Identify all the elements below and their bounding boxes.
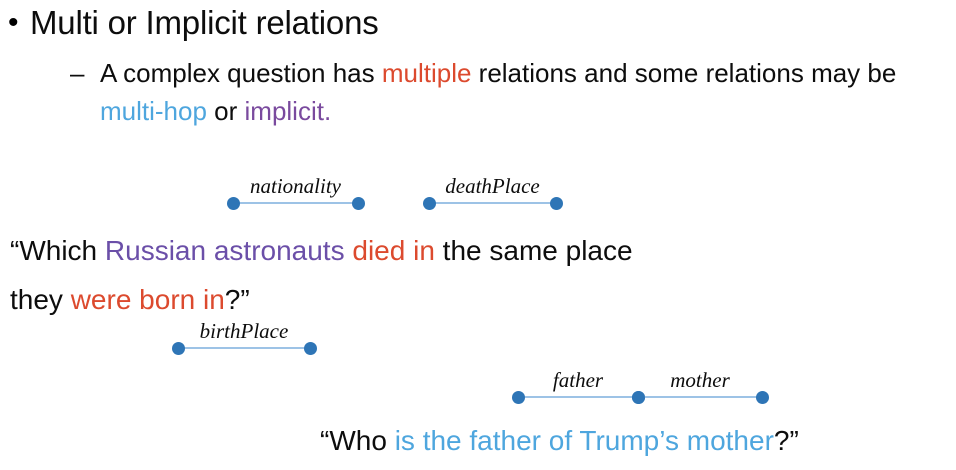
arc-label-deathPlace: deathPlace bbox=[445, 176, 539, 197]
question-one-line-one: “Which Russian astronauts died in the sa… bbox=[10, 234, 633, 268]
q1l2-run-1: were born in bbox=[71, 284, 225, 315]
q2l1-run-0: “Who bbox=[320, 425, 395, 456]
subbullet-run-1: multiple bbox=[382, 58, 472, 88]
arc-node-nationality-1 bbox=[352, 197, 365, 210]
arc-label-father: father bbox=[553, 370, 603, 391]
subbullet-run-2: relations and some relations may be bbox=[471, 58, 896, 88]
question-two-line-one: “Who is the father of Trump’s mother?” bbox=[320, 424, 799, 458]
subbullet-run-0: A complex question has bbox=[100, 58, 382, 88]
arc-line-nationality bbox=[233, 202, 358, 204]
q1l2-run-2: ?” bbox=[225, 284, 250, 315]
arc-line-mother bbox=[638, 396, 762, 398]
slide-canvas: • Multi or Implicit relations – A comple… bbox=[0, 0, 956, 470]
arc-node-father-0 bbox=[512, 391, 525, 404]
arc-node-mother-1 bbox=[756, 391, 769, 404]
arc-node-nationality-0 bbox=[227, 197, 240, 210]
arc-label-nationality: nationality bbox=[250, 176, 341, 197]
subbullet-text: A complex question has multiple relation… bbox=[100, 54, 950, 130]
subbullet-run-5: implicit. bbox=[245, 96, 332, 126]
q1l2-run-0: they bbox=[10, 284, 71, 315]
question-one-line-two: they were born in?” bbox=[10, 283, 250, 317]
heading-bullet-row: • Multi or Implicit relations bbox=[8, 2, 379, 44]
subbullet-run-4: or bbox=[207, 96, 245, 126]
dash-icon: – bbox=[70, 54, 84, 92]
arc-node-mother-0 bbox=[632, 391, 645, 404]
q1l1-run-0: “Which bbox=[10, 235, 105, 266]
subbullet-run-3: multi-hop bbox=[100, 96, 207, 126]
subbullet-block: – A complex question has multiple relati… bbox=[70, 54, 950, 130]
arc-node-birthPlace-0 bbox=[172, 342, 185, 355]
arc-node-deathPlace-1 bbox=[550, 197, 563, 210]
page-title: Multi or Implicit relations bbox=[30, 2, 379, 44]
q2l1-run-1: is the father of Trump’s mother bbox=[395, 425, 774, 456]
q1l1-run-4: the same place bbox=[435, 235, 633, 266]
arc-node-deathPlace-0 bbox=[423, 197, 436, 210]
bullet-icon: • bbox=[8, 2, 30, 44]
arc-label-mother: mother bbox=[670, 370, 730, 391]
arc-line-deathPlace bbox=[429, 202, 556, 204]
arc-line-father bbox=[518, 396, 638, 398]
q2l1-run-2: ?” bbox=[774, 425, 799, 456]
arc-label-birthPlace: birthPlace bbox=[200, 321, 289, 342]
arc-node-birthPlace-1 bbox=[304, 342, 317, 355]
q1l1-run-1: Russian astronauts bbox=[105, 235, 345, 266]
arc-line-birthPlace bbox=[178, 347, 310, 349]
q1l1-run-3: died in bbox=[352, 235, 435, 266]
